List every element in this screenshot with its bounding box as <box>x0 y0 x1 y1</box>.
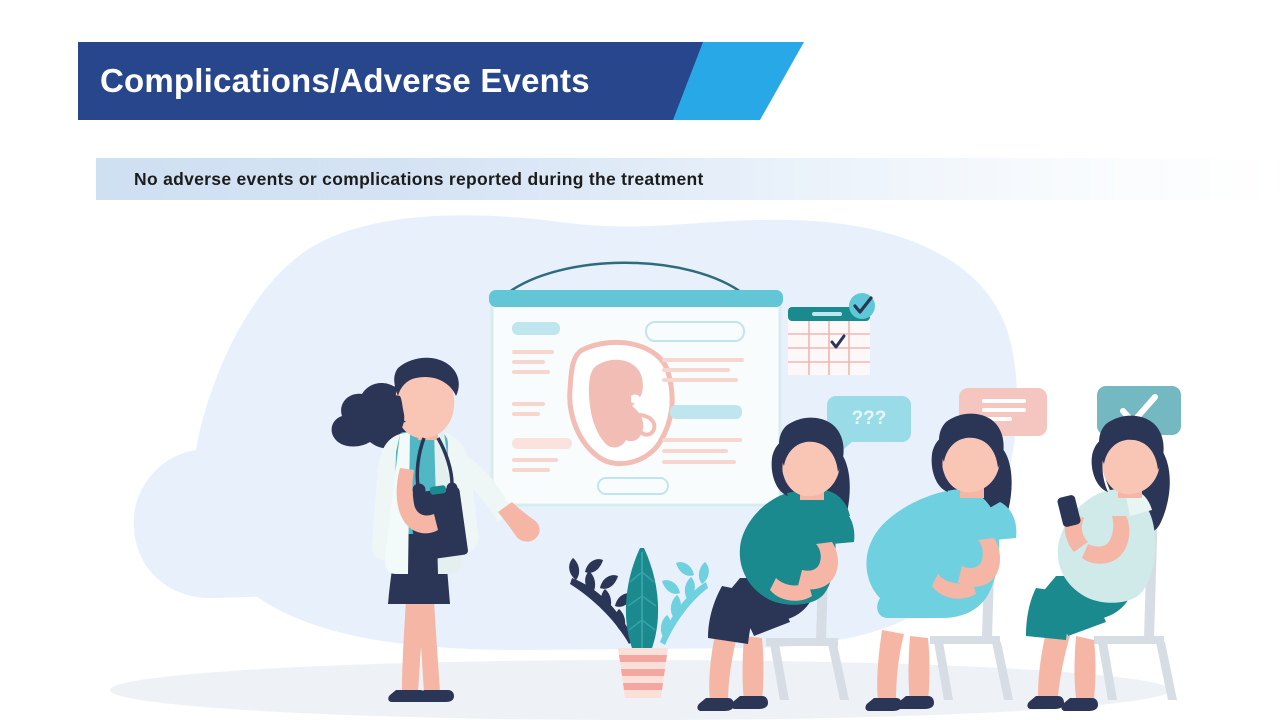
slide-canvas: Complications/Adverse Events No adverse … <box>0 0 1280 720</box>
fetus-diagram <box>570 342 672 463</box>
page-title: Complications/Adverse Events <box>78 62 590 100</box>
subtitle-text: No adverse events or complications repor… <box>96 169 704 190</box>
title-bar: Complications/Adverse Events <box>78 42 703 120</box>
prenatal-class-illustration: ??? <box>0 200 1280 720</box>
svg-text:???: ??? <box>852 408 887 429</box>
smartphone <box>1057 494 1082 527</box>
presentation-board <box>489 263 783 505</box>
subtitle-bar: No adverse events or complications repor… <box>96 158 1280 200</box>
patient-figure-3 <box>1026 416 1177 711</box>
title-banner: Complications/Adverse Events <box>78 42 728 120</box>
